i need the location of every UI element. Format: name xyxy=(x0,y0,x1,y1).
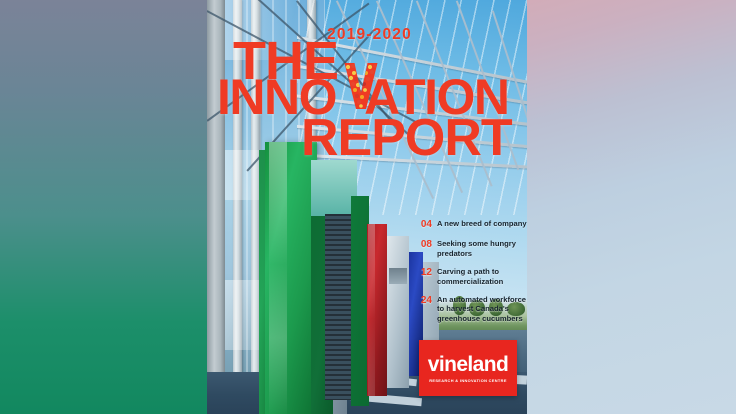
cover-table-of-contents: 04 A new breed of company 08 Seeking som… xyxy=(412,219,527,332)
facade-mullion xyxy=(233,0,242,414)
facade-structural-post xyxy=(207,0,225,414)
vineland-logo[interactable]: vineland RESEARCH & INNOVATION CENTRE xyxy=(419,340,517,396)
toc-item-title: An automated workforce to harvest Canada… xyxy=(437,295,527,325)
toc-page-number: 24 xyxy=(412,295,437,307)
cladding-louvre-grille xyxy=(325,214,351,400)
toc-item[interactable]: 08 Seeking some hungry predators xyxy=(412,239,527,259)
screenshot-stage: 2019-2020 THE INNOVATION xyxy=(0,0,736,414)
magazine-cover: 2019-2020 THE INNOVATION xyxy=(207,0,527,414)
toc-page-number: 04 xyxy=(412,219,437,231)
toc-item-title: A new breed of company xyxy=(437,219,527,229)
toc-item[interactable]: 12 Carving a path to commercialization xyxy=(412,267,527,287)
cladding-panel-white xyxy=(387,236,409,388)
cladding-panel-green-highlight xyxy=(269,142,287,414)
logo-tagline: RESEARCH & INNOVATION CENTRE xyxy=(429,378,507,383)
toc-page-number: 08 xyxy=(412,239,437,251)
toc-page-number: 12 xyxy=(412,267,437,279)
cladding-vent-slot xyxy=(389,268,407,284)
logo-wordmark: vineland xyxy=(428,354,508,375)
toc-item-title: Carving a path to commercialization xyxy=(437,267,527,287)
toc-item-title: Seeking some hungry predators xyxy=(437,239,527,259)
cladding-panel-red-highlight xyxy=(368,224,375,396)
toc-item[interactable]: 04 A new breed of company xyxy=(412,219,527,231)
toc-item[interactable]: 24 An automated workforce to harvest Can… xyxy=(412,295,527,325)
